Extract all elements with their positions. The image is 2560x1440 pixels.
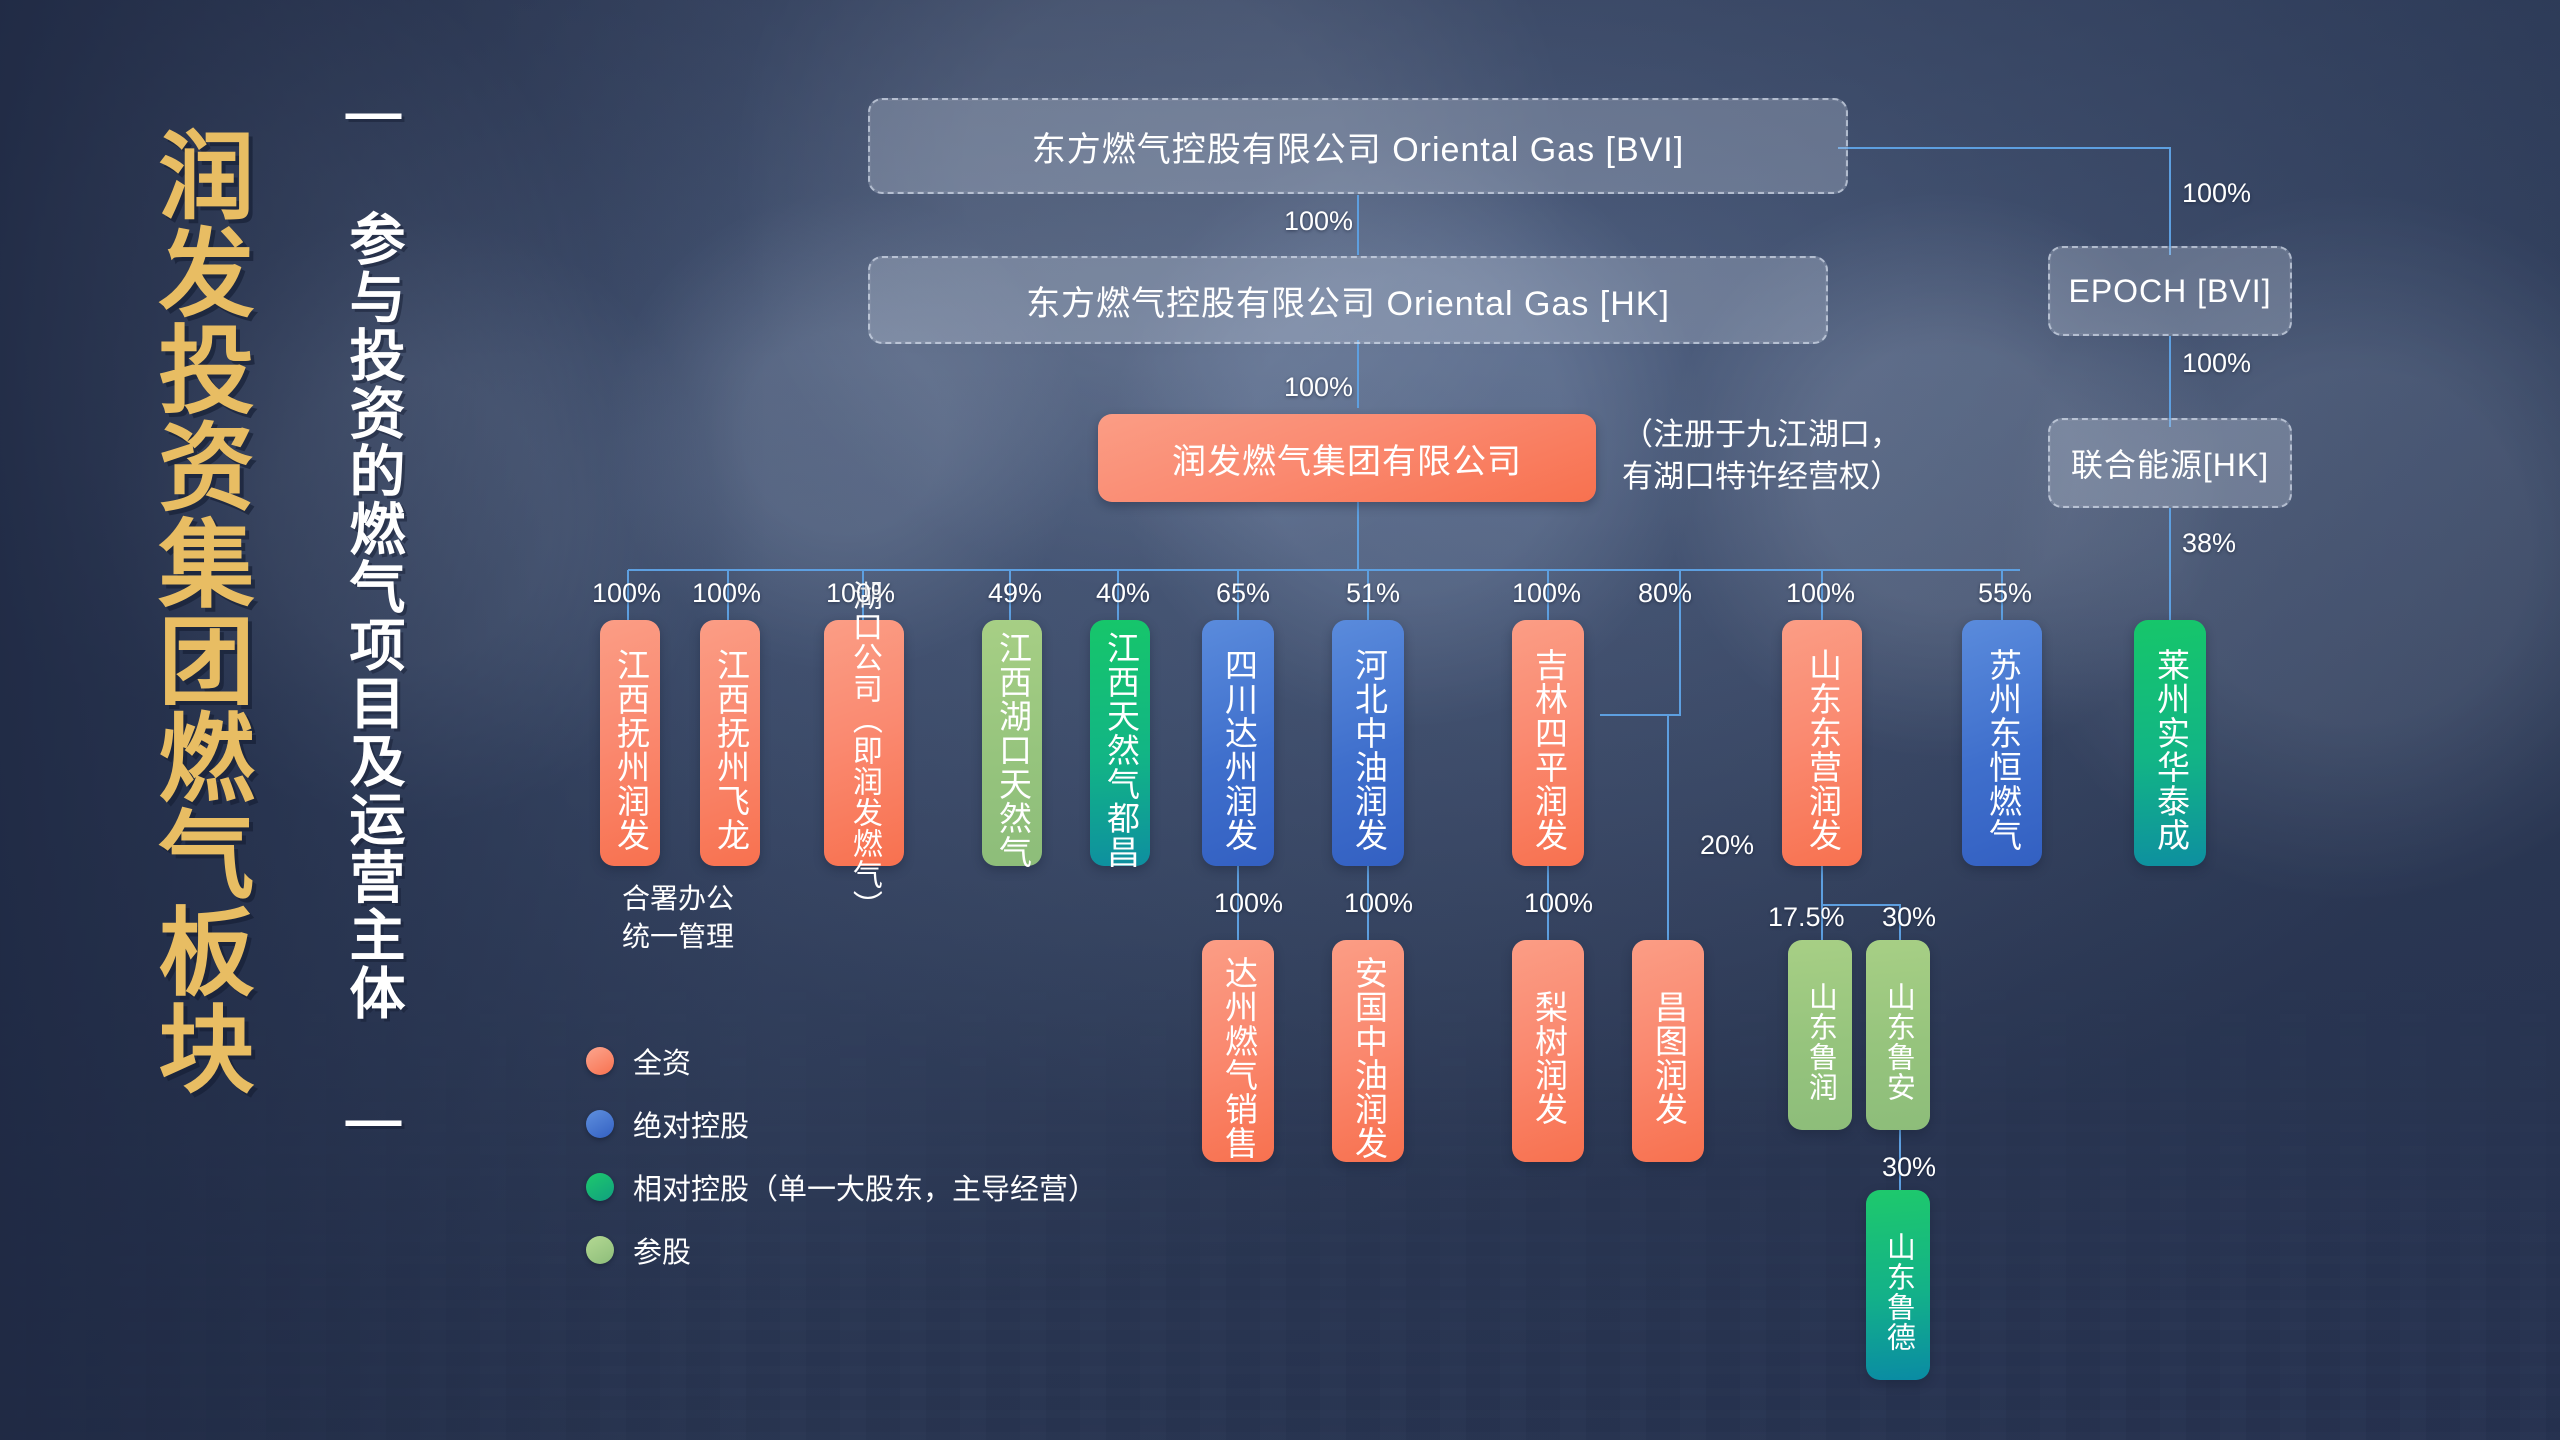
legend-item: 参股 <box>586 1229 1097 1271</box>
node-label: 吉林四平润发 <box>1531 648 1566 852</box>
legend-label: 参股 <box>633 1229 691 1271</box>
node-label: EPOCH [BVI] <box>2068 273 2271 310</box>
legend-label: 绝对控股 <box>633 1103 749 1145</box>
node-laizhou-shihua-taicheng[interactable]: 莱州实华泰成 <box>2134 620 2206 866</box>
edge-label-sddyrf-sdla: 30% <box>1882 902 1936 933</box>
edge-label-group-ctrf: 80% <box>1638 578 1692 609</box>
node-label: 湖口公司（即润发燃气） <box>848 580 880 921</box>
node-jiangxi-fuzhou-feilong[interactable]: 江西抚州飞龙 <box>700 620 760 866</box>
node-label: 河北中油润发 <box>1351 648 1386 852</box>
edge-label-hbzyrf-agzyrf: 100% <box>1344 888 1413 919</box>
legend-swatch-minority-stake <box>586 1236 614 1264</box>
node-runfa-gas-group[interactable]: 润发燃气集团有限公司 <box>1098 414 1596 502</box>
legend-label: 全资 <box>633 1040 691 1082</box>
edge-label-group-jxfzrf: 100% <box>592 578 661 609</box>
note-hukou-registration: （注册于九江湖口， 有湖口特许经营权） <box>1622 414 1901 498</box>
legend-swatch-wholly-owned <box>586 1047 614 1075</box>
node-lishu-runfa[interactable]: 梨树润发 <box>1512 940 1584 1162</box>
node-label: 东方燃气控股有限公司 Oriental Gas [BVI] <box>1032 122 1684 171</box>
node-shandong-dongying-runfa[interactable]: 山东东营润发 <box>1782 620 1862 866</box>
node-label: 四川达州润发 <box>1221 648 1256 852</box>
node-label: 达州燃气销售 <box>1221 956 1256 1160</box>
legend-item: 全资 <box>586 1040 1097 1082</box>
edge-label-hk-group: 100% <box>1284 372 1353 403</box>
edge-label-scdzrf-dzrqxs: 100% <box>1214 888 1283 919</box>
edge-label-epoch-union: 100% <box>2182 348 2251 379</box>
node-label: 山东鲁安 <box>1883 982 1914 1102</box>
node-label: 江西抚州润发 <box>613 648 648 852</box>
edge-label-group-szdhrq: 55% <box>1978 578 2032 609</box>
node-hukou-company[interactable]: 湖口公司（即润发燃气） <box>824 620 904 866</box>
note-joint-office: 合署办公 统一管理 <box>596 880 760 956</box>
edge-label-group-sddyrf: 100% <box>1786 578 1855 609</box>
node-label: 安国中油润发 <box>1351 956 1386 1160</box>
node-jilin-siping-runfa[interactable]: 吉林四平润发 <box>1512 620 1584 866</box>
node-label: 润发燃气集团有限公司 <box>1172 434 1522 483</box>
edge-label-jlspzf-ctrf: 20% <box>1700 830 1754 861</box>
node-label: 江西湖口天然气 <box>995 631 1030 869</box>
legend-swatch-relative-control <box>586 1173 614 1201</box>
legend: 全资 绝对控股 相对控股（单一大股东，主导经营） 参股 <box>586 1040 1097 1292</box>
node-label: 山东东营润发 <box>1805 648 1840 852</box>
edge-label-sddyrf-sdlr: 17.5% <box>1768 902 1845 933</box>
node-oriental-gas-bvi[interactable]: 东方燃气控股有限公司 Oriental Gas [BVI] <box>868 98 1848 194</box>
node-label: 苏州东恒燃气 <box>1985 648 2020 852</box>
edge-label-group-scdzrf: 65% <box>1216 578 1270 609</box>
node-changtu-runfa[interactable]: 昌图润发 <box>1632 940 1704 1162</box>
node-shandong-luan[interactable]: 山东鲁安 <box>1866 940 1930 1130</box>
node-label: 江西抚州飞龙 <box>713 648 748 852</box>
node-dazhou-gas-sales[interactable]: 达州燃气销售 <box>1202 940 1274 1162</box>
node-label: 东方燃气控股有限公司 Oriental Gas [HK] <box>1026 276 1670 325</box>
edge-label-group-hbzyrf: 51% <box>1346 578 1400 609</box>
node-epoch-bvi[interactable]: EPOCH [BVI] <box>2048 246 2292 336</box>
node-label: 联合能源[HK] <box>2071 440 2269 486</box>
legend-swatch-absolute-control <box>586 1110 614 1138</box>
node-label: 山东鲁德 <box>1883 1232 1914 1352</box>
node-jiangxi-fuzhou-runfa[interactable]: 江西抚州润发 <box>600 620 660 866</box>
node-jiangxi-natural-gas-duchang[interactable]: 江西天然气都昌 <box>1090 620 1150 866</box>
legend-item: 相对控股（单一大股东，主导经营） <box>586 1166 1097 1208</box>
edge-label-jlspzf-lsrf: 100% <box>1524 888 1593 919</box>
edge-label-sdla-sdld: 30% <box>1882 1152 1936 1183</box>
node-label: 山东鲁润 <box>1805 982 1836 1102</box>
edge-label-group-jxtrqdc: 40% <box>1096 578 1150 609</box>
edge-label-group-hukou: 100% <box>826 578 895 609</box>
org-chart-canvas: 润发投资集团燃气板块 — 参与投资的燃气项目及运营主体 — <box>0 0 2560 1440</box>
node-shandong-lurun[interactable]: 山东鲁润 <box>1788 940 1852 1130</box>
edge-label-union-laizhou: 38% <box>2182 528 2236 559</box>
edge-label-group-jxfzfl: 100% <box>692 578 761 609</box>
edge-label-bvi-epoch: 100% <box>2182 178 2251 209</box>
node-suzhou-dongheng-gas[interactable]: 苏州东恒燃气 <box>1962 620 2042 866</box>
node-label: 梨树润发 <box>1531 990 1566 1126</box>
edge-label-group-jxhktrq: 49% <box>988 578 1042 609</box>
node-shandong-lude[interactable]: 山东鲁德 <box>1866 1190 1930 1380</box>
legend-item: 绝对控股 <box>586 1103 1097 1145</box>
node-jiangxi-hukou-natural-gas[interactable]: 江西湖口天然气 <box>982 620 1042 866</box>
node-union-energy-hk[interactable]: 联合能源[HK] <box>2048 418 2292 508</box>
node-anguo-zhongyou-runfa[interactable]: 安国中油润发 <box>1332 940 1404 1162</box>
edge-label-bvi-hk: 100% <box>1284 206 1353 237</box>
node-label: 昌图润发 <box>1651 990 1686 1126</box>
node-oriental-gas-hk[interactable]: 东方燃气控股有限公司 Oriental Gas [HK] <box>868 256 1828 344</box>
node-sichuan-dazhou-runfa[interactable]: 四川达州润发 <box>1202 620 1274 866</box>
edge-label-group-jlspzf: 100% <box>1512 578 1581 609</box>
node-label: 江西天然气都昌 <box>1103 631 1138 869</box>
legend-label: 相对控股（单一大股东，主导经营） <box>633 1166 1097 1208</box>
node-label: 莱州实华泰成 <box>2153 648 2188 852</box>
node-hebei-zhongyou-runfa[interactable]: 河北中油润发 <box>1332 620 1404 866</box>
